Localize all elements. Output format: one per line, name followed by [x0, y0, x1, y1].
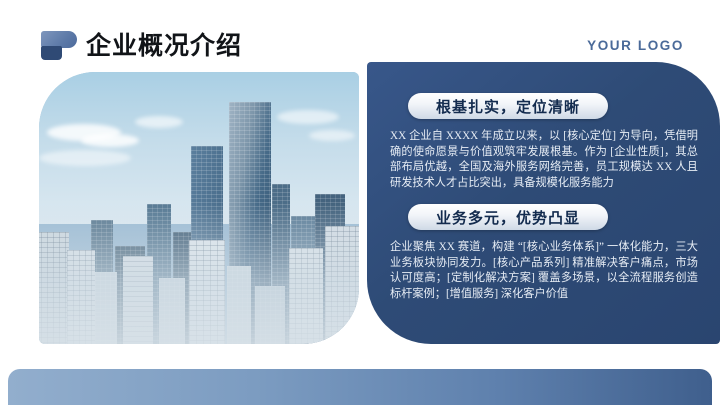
content-panel: 根基扎实，定位清晰 XX 企业自 XXXX 年成立以来，以 [核心定位] 为导向… — [367, 62, 720, 344]
bookmark-flag-icon — [41, 31, 77, 60]
building-residential — [39, 232, 69, 344]
bottom-accent-bar — [8, 369, 712, 405]
building-residential — [227, 266, 251, 344]
building-residential — [67, 250, 95, 344]
building-residential — [159, 278, 185, 344]
building-residential — [95, 272, 117, 344]
building-residential — [289, 248, 323, 344]
section-body-1: XX 企业自 XXXX 年成立以来，以 [核心定位] 为导向，凭借明确的使命愿景… — [390, 129, 698, 191]
slide-canvas: 企业概况介绍 YOUR LOGO — [0, 0, 720, 405]
building-residential — [325, 226, 359, 344]
section-heading-1: 根基扎实，定位清晰 — [408, 93, 608, 119]
building-residential — [189, 240, 225, 344]
cloud — [39, 150, 131, 166]
section-body-2: 企业聚焦 XX 赛道，构建 “[核心业务体系]” 一体化能力，三大业务板块协同发… — [390, 240, 698, 302]
slide-header: 企业概况介绍 YOUR LOGO — [0, 0, 720, 70]
page-title: 企业概况介绍 — [86, 26, 242, 62]
cityscape-photo — [39, 72, 359, 344]
cloud — [277, 110, 339, 124]
cloud — [135, 116, 183, 128]
cloud — [81, 134, 139, 147]
building-residential — [123, 256, 153, 344]
building-residential — [255, 286, 285, 344]
section-heading-2: 业务多元，优势凸显 — [408, 204, 608, 230]
logo-bottom-shape — [41, 46, 62, 60]
brand-logo: YOUR LOGO — [587, 38, 684, 53]
cloud — [309, 130, 355, 141]
